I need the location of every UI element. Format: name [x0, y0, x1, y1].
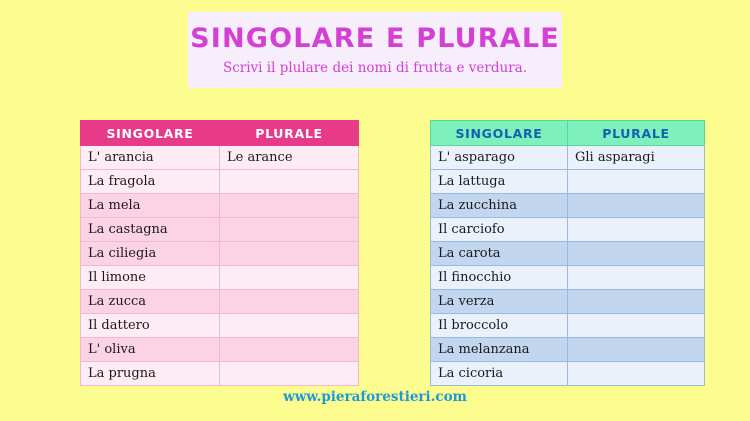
- cell-singolare: L' asparago: [431, 146, 568, 170]
- cell-plurale[interactable]: [220, 194, 359, 218]
- fruit-table: SINGOLARE PLURALE L' arancia Le arance L…: [80, 120, 359, 386]
- cell-singolare: La lattuga: [431, 170, 568, 194]
- table-row: La carota: [431, 242, 705, 266]
- cell-singolare: La zucca: [81, 290, 220, 314]
- table-row: Il limone: [81, 266, 359, 290]
- cell-singolare: La melanzana: [431, 338, 568, 362]
- cell-plurale[interactable]: [220, 290, 359, 314]
- table-header-row: SINGOLARE PLURALE: [431, 121, 705, 146]
- table-row: La zucca: [81, 290, 359, 314]
- cell-plurale[interactable]: [568, 170, 705, 194]
- table-row: Il broccolo: [431, 314, 705, 338]
- table-header-row: SINGOLARE PLURALE: [81, 121, 359, 146]
- cell-singolare: La ciliegia: [81, 242, 220, 266]
- cell-plurale[interactable]: Le arance: [220, 146, 359, 170]
- cell-plurale[interactable]: [568, 194, 705, 218]
- table-row: La fragola: [81, 170, 359, 194]
- cell-plurale[interactable]: [220, 266, 359, 290]
- cell-plurale[interactable]: [220, 314, 359, 338]
- cell-singolare: Il broccolo: [431, 314, 568, 338]
- footer-website-link[interactable]: www.pieraforestieri.com: [0, 389, 750, 405]
- cell-singolare: La zucchina: [431, 194, 568, 218]
- cell-plurale[interactable]: [568, 242, 705, 266]
- table-row: La zucchina: [431, 194, 705, 218]
- column-header-singolare: SINGOLARE: [81, 121, 220, 146]
- cell-plurale[interactable]: Gli asparagi: [568, 146, 705, 170]
- cell-singolare: La mela: [81, 194, 220, 218]
- cell-plurale[interactable]: [568, 338, 705, 362]
- page-title: SINGOLARE E PLURALE: [190, 24, 560, 54]
- table-row: Il dattero: [81, 314, 359, 338]
- cell-singolare: La carota: [431, 242, 568, 266]
- vegetable-table: SINGOLARE PLURALE L' asparago Gli aspara…: [430, 120, 705, 386]
- cell-plurale[interactable]: [568, 218, 705, 242]
- cell-plurale[interactable]: [568, 314, 705, 338]
- table-row: L' arancia Le arance: [81, 146, 359, 170]
- cell-plurale[interactable]: [220, 242, 359, 266]
- title-card: SINGOLARE E PLURALE Scrivi il plulare de…: [188, 12, 562, 88]
- table-row: Il finocchio: [431, 266, 705, 290]
- fruit-table-body: L' arancia Le arance La fragola La mela …: [81, 146, 359, 386]
- cell-singolare: Il carciofo: [431, 218, 568, 242]
- cell-singolare: L' oliva: [81, 338, 220, 362]
- table-row: La ciliegia: [81, 242, 359, 266]
- vegetable-table-header: SINGOLARE PLURALE: [431, 121, 705, 146]
- cell-plurale[interactable]: [568, 266, 705, 290]
- cell-singolare: La verza: [431, 290, 568, 314]
- cell-plurale[interactable]: [220, 362, 359, 386]
- cell-singolare: Il finocchio: [431, 266, 568, 290]
- cell-plurale[interactable]: [220, 170, 359, 194]
- cell-singolare: La prugna: [81, 362, 220, 386]
- column-header-plurale: PLURALE: [568, 121, 705, 146]
- cell-singolare: L' arancia: [81, 146, 220, 170]
- table-row: La mela: [81, 194, 359, 218]
- table-row: La verza: [431, 290, 705, 314]
- cell-plurale[interactable]: [568, 290, 705, 314]
- cell-singolare: La fragola: [81, 170, 220, 194]
- cell-plurale[interactable]: [220, 338, 359, 362]
- cell-plurale[interactable]: [568, 362, 705, 386]
- table-row: Il carciofo: [431, 218, 705, 242]
- table-row: La lattuga: [431, 170, 705, 194]
- page-subtitle: Scrivi il plulare dei nomi di frutta e v…: [223, 60, 527, 76]
- column-header-plurale: PLURALE: [220, 121, 359, 146]
- column-header-singolare: SINGOLARE: [431, 121, 568, 146]
- cell-singolare: La castagna: [81, 218, 220, 242]
- table-row: La castagna: [81, 218, 359, 242]
- cell-plurale[interactable]: [220, 218, 359, 242]
- table-row: La melanzana: [431, 338, 705, 362]
- table-row: La prugna: [81, 362, 359, 386]
- cell-singolare: La cicoria: [431, 362, 568, 386]
- table-row: L' oliva: [81, 338, 359, 362]
- cell-singolare: Il dattero: [81, 314, 220, 338]
- table-row: L' asparago Gli asparagi: [431, 146, 705, 170]
- fruit-table-header: SINGOLARE PLURALE: [81, 121, 359, 146]
- table-row: La cicoria: [431, 362, 705, 386]
- cell-singolare: Il limone: [81, 266, 220, 290]
- vegetable-table-body: L' asparago Gli asparagi La lattuga La z…: [431, 146, 705, 386]
